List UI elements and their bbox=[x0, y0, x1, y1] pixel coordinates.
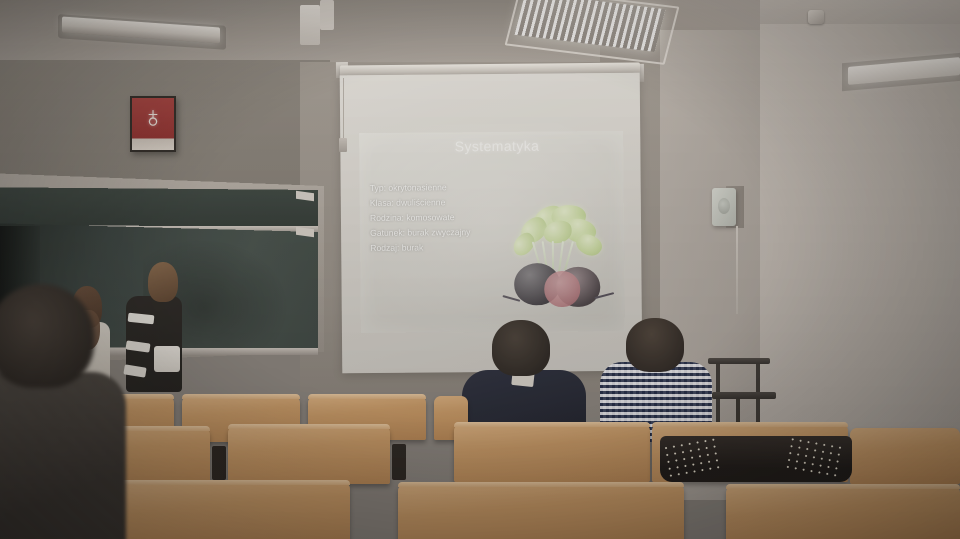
speaker-cable bbox=[736, 226, 738, 314]
bench-edge bbox=[398, 482, 684, 487]
bench-edge bbox=[112, 480, 350, 485]
head bbox=[626, 318, 684, 372]
chalkboard-upper-panel bbox=[0, 187, 318, 229]
bench-desk bbox=[726, 486, 960, 539]
beetroot-illustration bbox=[500, 204, 617, 317]
side-table-top bbox=[708, 358, 770, 364]
bag-studs bbox=[783, 435, 846, 479]
emblem-field: ♁ bbox=[132, 98, 174, 150]
bench-desk bbox=[850, 428, 960, 484]
head bbox=[492, 320, 550, 376]
side-table-shelf bbox=[712, 392, 776, 399]
bench-bracket bbox=[212, 446, 226, 480]
stem bbox=[558, 241, 564, 273]
wall-sensor-icon bbox=[808, 10, 824, 24]
bag-studs bbox=[661, 435, 724, 479]
list-item: Typ: okrytonasienne bbox=[370, 179, 570, 196]
screen-pull-cord[interactable] bbox=[343, 78, 344, 140]
bench-desk bbox=[454, 424, 650, 482]
bench-edge bbox=[726, 484, 960, 489]
eagle-icon: ♁ bbox=[142, 103, 165, 133]
ceiling-light-icon bbox=[300, 5, 320, 45]
stem bbox=[564, 241, 574, 270]
jacket-panel bbox=[154, 346, 180, 372]
bench-edge bbox=[228, 424, 390, 429]
bench-edge bbox=[182, 394, 300, 399]
screen-cord-handle[interactable] bbox=[339, 138, 347, 152]
speaker-cone bbox=[718, 198, 730, 214]
slide-title: Systematyka bbox=[412, 137, 582, 154]
bench-desk bbox=[228, 426, 390, 484]
bench-edge bbox=[454, 422, 650, 427]
beet-root-red bbox=[544, 271, 580, 307]
bench-desk bbox=[398, 484, 684, 539]
classroom-photo: ♁ Systematyka Typ: okrytonasienne Klasa:… bbox=[0, 0, 960, 539]
ceiling-light-icon bbox=[320, 0, 334, 30]
torso bbox=[0, 372, 126, 539]
polish-coat-of-arms: ♁ bbox=[130, 96, 176, 152]
bench-edge bbox=[652, 422, 848, 427]
studded-bag bbox=[660, 436, 852, 482]
bench-bracket bbox=[392, 444, 406, 480]
head bbox=[148, 262, 178, 302]
bench-desk bbox=[112, 482, 350, 539]
bench-edge bbox=[308, 394, 426, 399]
